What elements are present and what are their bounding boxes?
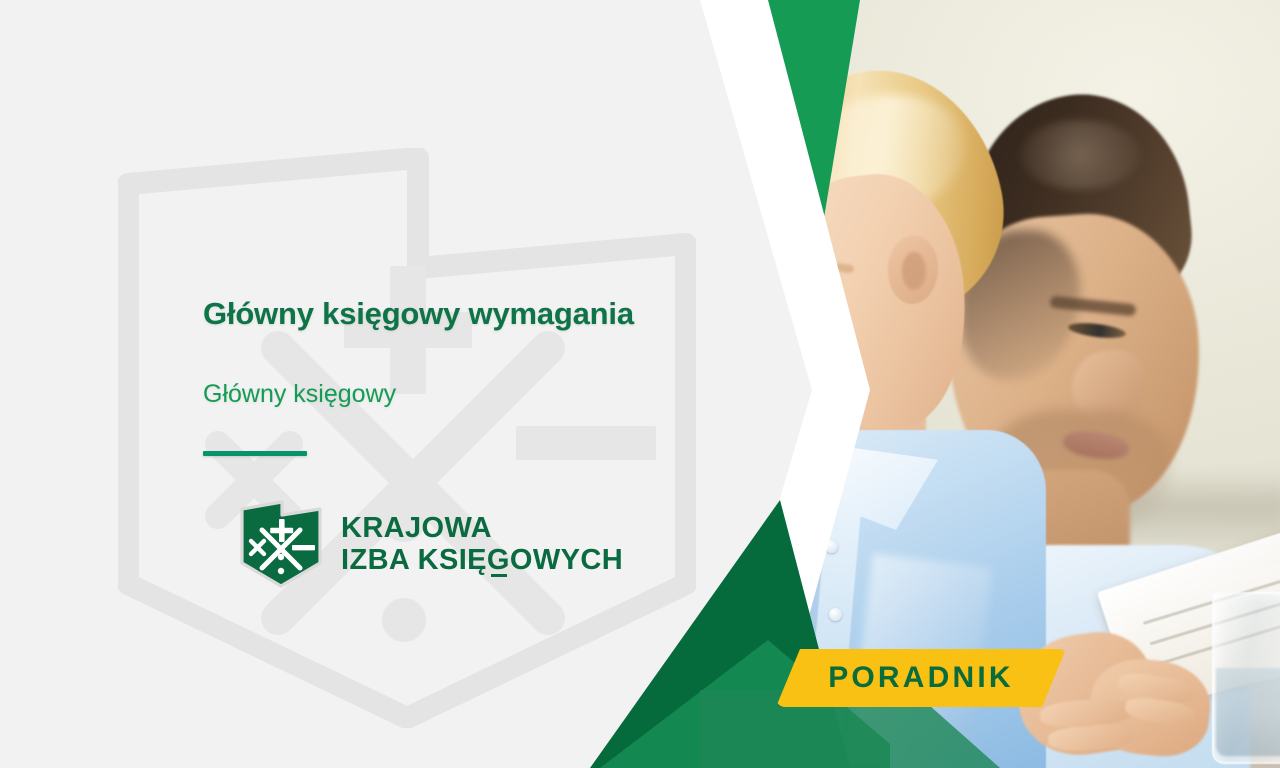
title-divider-rule [203, 451, 307, 456]
man-hair-highlight [1020, 120, 1140, 190]
woman-ear-inner [902, 252, 926, 290]
badge-label: PORADNIK [776, 649, 1066, 707]
brand-logo-text: KRAJOWA IZBA KSIĘGOWYCH [341, 512, 623, 577]
banner-canvas: Główny księgowy wymagania Główny księgow… [0, 0, 1280, 768]
page-title: Główny księgowy wymagania [203, 296, 743, 333]
shield-math-symbols-icon [238, 497, 324, 591]
brand-logo[interactable]: KRAJOWA IZBA KSIĘGOWYCH [238, 497, 623, 591]
shirt-button [829, 608, 842, 621]
text-block: Główny księgowy wymagania Główny księgow… [203, 296, 743, 456]
poradnik-badge[interactable]: PORADNIK [776, 649, 1066, 707]
e-ogonek-underline [491, 574, 507, 577]
brand-logo-line-2: IZBA KSIĘGOWYCH [341, 544, 623, 576]
brand-logo-line-2-text: IZBA KSIĘGOWYCH [341, 544, 623, 576]
water-glass-liquid [1216, 668, 1280, 756]
brand-logo-line-1: KRAJOWA [341, 512, 623, 544]
page-subtitle: Główny księgowy [203, 379, 743, 409]
